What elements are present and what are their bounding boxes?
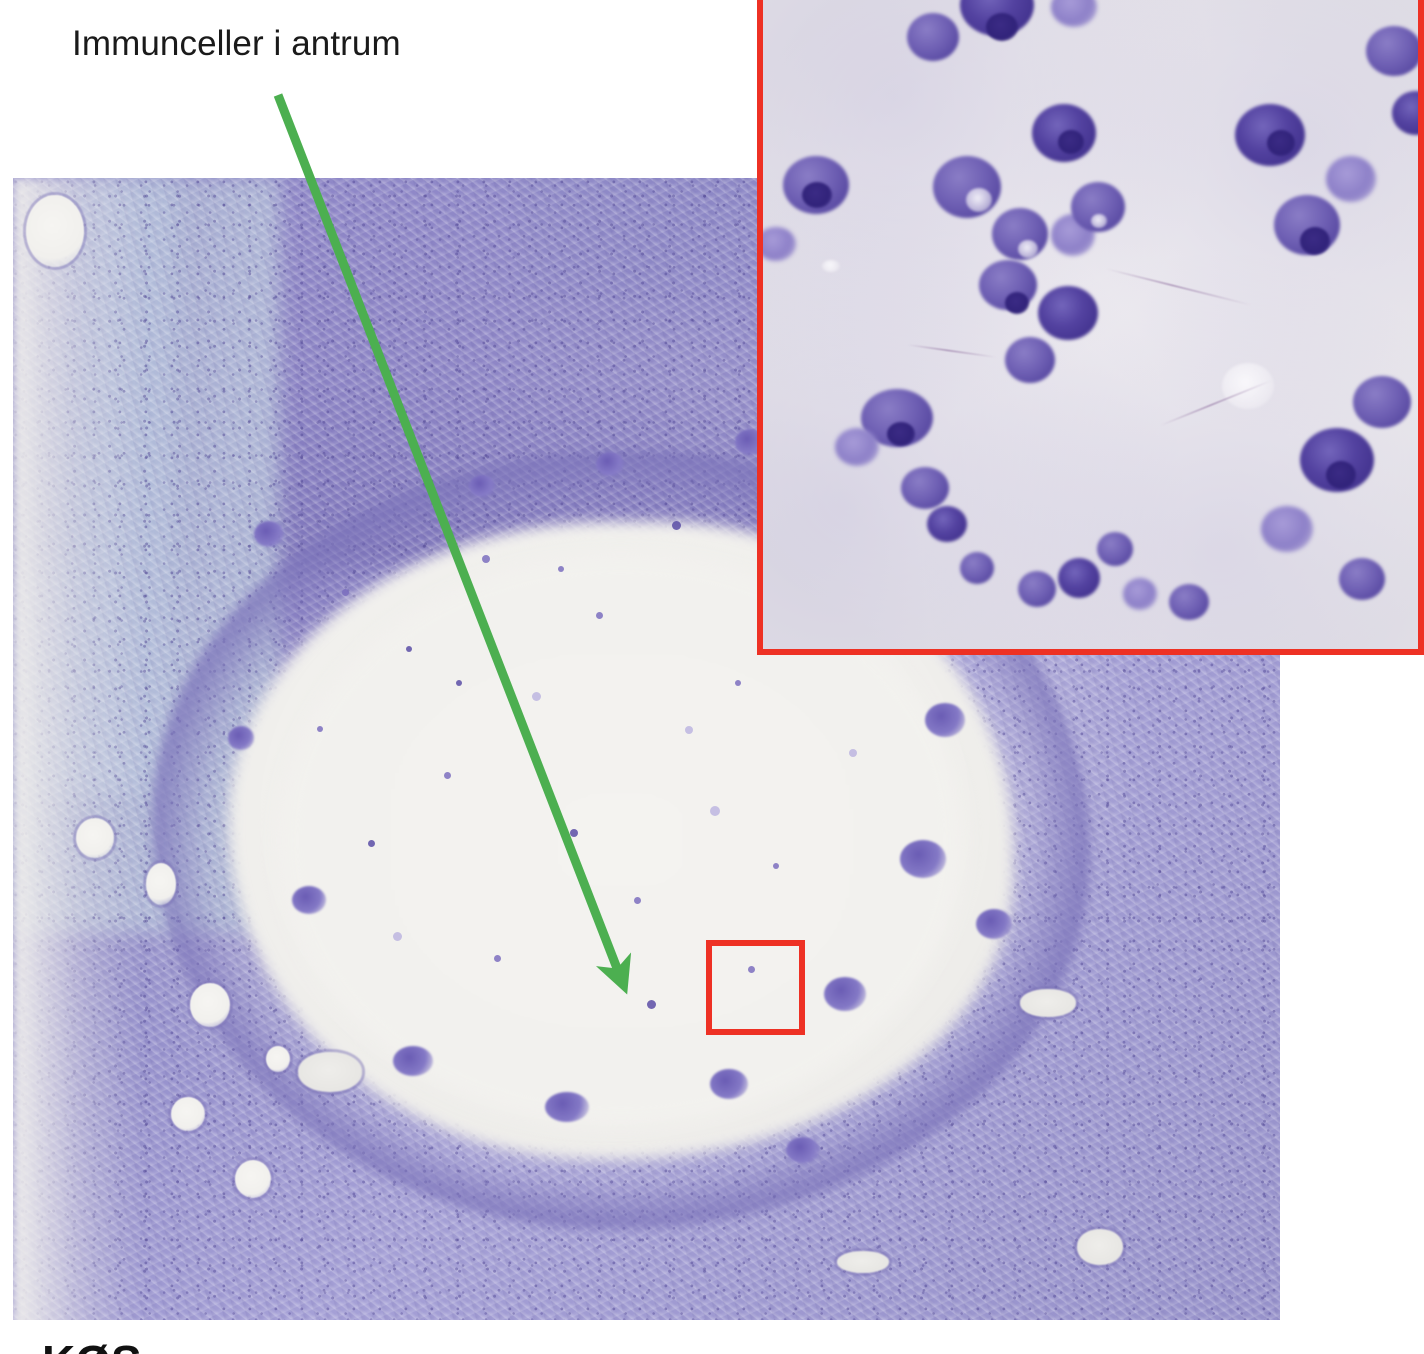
blood-vessel-lumen [1020, 989, 1076, 1017]
small-follicle [146, 863, 176, 905]
page-title: Immunceller i antrum [72, 22, 401, 66]
region-of-interest-rectangle[interactable] [706, 940, 805, 1035]
blood-vessel-lumen [837, 1251, 889, 1273]
small-follicle [235, 1160, 271, 1198]
blood-vessel-lumen [1077, 1229, 1123, 1265]
bottom-caption: KØS [42, 1336, 142, 1354]
small-follicle [26, 195, 84, 267]
blood-vessel-lumen [298, 1052, 362, 1092]
small-follicle [76, 818, 114, 858]
high-magnification-immune-cells-inset[interactable] [757, 0, 1424, 655]
